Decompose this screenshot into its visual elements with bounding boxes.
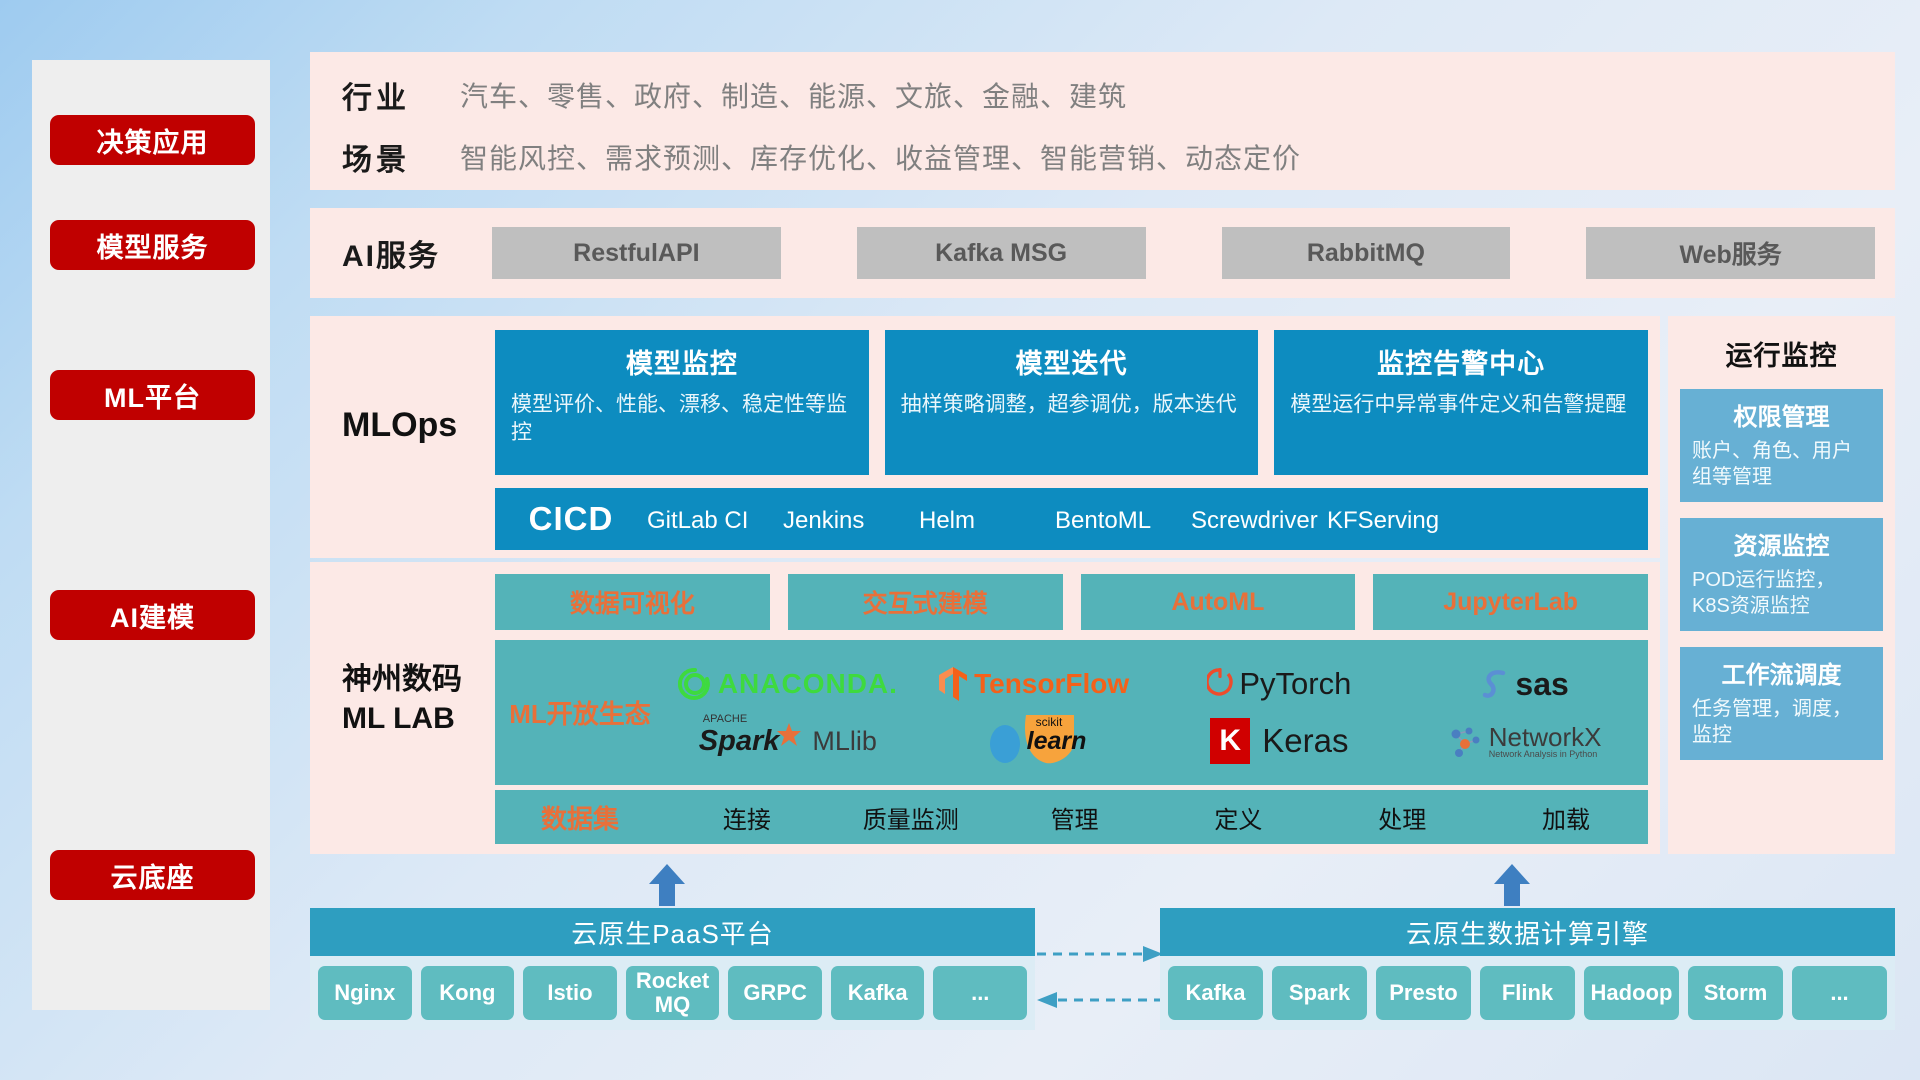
runtime-monitoring-title: 运行监控: [1668, 316, 1895, 373]
service-chip-label: Kafka MSG: [935, 239, 1067, 268]
cicd-item-screwdriver[interactable]: Screwdriver: [1191, 508, 1327, 535]
dataset-item-define[interactable]: 定义: [1156, 800, 1320, 835]
dataset-item-connect[interactable]: 连接: [665, 800, 829, 835]
monitor-card-desc: POD运行监控，K8S资源监控: [1692, 567, 1871, 619]
scenario-row: 场景 智能风控、需求预测、库存优化、收益管理、智能营销、动态定价: [310, 132, 1895, 182]
left-rail: 决策应用 模型服务 ML平台 AI建模 云底座: [32, 60, 270, 1010]
cloud-paas-items: Nginx Kong Istio RocketMQ GRPC Kafka ...: [310, 956, 1035, 1030]
cloud-pill-rocketmq[interactable]: RocketMQ: [626, 966, 720, 1020]
spark-logo-text: Spark: [699, 725, 780, 758]
spark-star-icon: [776, 722, 802, 748]
networkx-logo: NetworkX Network Analysis in Python: [1402, 724, 1648, 759]
service-chip-label: RestfulAPI: [573, 239, 699, 268]
anaconda-icon: [678, 667, 712, 701]
pytorch-logo: PyTorch: [1157, 666, 1403, 702]
cicd-title: CICD: [495, 500, 647, 538]
learn-text: learn: [1027, 727, 1087, 756]
cloud-pill-kong[interactable]: Kong: [421, 966, 515, 1020]
cloud-pill-spark[interactable]: Spark: [1272, 966, 1367, 1020]
sas-logo-text: sas: [1515, 666, 1568, 703]
rail-label: AI建模: [110, 596, 195, 635]
ml-lab-band: 神州数码 ML LAB 数据可视化 交互式建模 AutoML JupyterLa…: [310, 562, 1660, 854]
rail-item-cloud-base[interactable]: 云底座: [50, 850, 255, 900]
rail-label: 云底座: [111, 856, 195, 895]
mllib-logo-text: MLlib: [812, 726, 877, 757]
industry-value: 汽车、零售、政府、制造、能源、文旅、金融、建筑: [460, 75, 1127, 115]
cloud-compute-block: 云原生数据计算引擎 Kafka Spark Presto Flink Hadoo…: [1160, 908, 1895, 1030]
service-chip-label: Web服务: [1679, 235, 1781, 271]
rail-item-decision-apps[interactable]: 决策应用: [50, 115, 255, 165]
service-chip-restfulapi[interactable]: RestfulAPI: [492, 227, 781, 279]
monitor-card-permission[interactable]: 权限管理 账户、角色、用户组等管理: [1680, 389, 1883, 502]
card-desc: 模型运行中异常事件定义和告警提醒: [1290, 391, 1632, 419]
networkx-text-block: NetworkX Network Analysis in Python: [1489, 724, 1602, 759]
lab-tool-label: AutoML: [1171, 588, 1264, 617]
card-desc: 抽样策略调整，超参调优，版本迭代: [901, 391, 1243, 419]
service-chip-kafka-msg[interactable]: Kafka MSG: [857, 227, 1146, 279]
cloud-pill-more[interactable]: ...: [1792, 966, 1887, 1020]
ai-service-band: AI服务 RestfulAPI Kafka MSG RabbitMQ Web服务: [310, 208, 1895, 298]
dataset-label: 数据集: [495, 799, 665, 836]
cicd-item-gitlab-ci[interactable]: GitLab CI: [647, 508, 783, 535]
tensorflow-logo: TensorFlow: [911, 666, 1157, 702]
lab-tool-label: 交互式建模: [863, 584, 988, 620]
lab-tool-interactive-modeling[interactable]: 交互式建模: [788, 574, 1063, 630]
keras-mark-letter: K: [1219, 724, 1241, 758]
scikit-learn-logo: scikit learn: [911, 713, 1157, 770]
mlops-card-alert-center[interactable]: 监控告警中心 模型运行中异常事件定义和告警提醒: [1274, 330, 1648, 475]
networkx-tagline: Network Analysis in Python: [1489, 750, 1602, 759]
mlops-card-list: 模型监控 模型评价、性能、漂移、稳定性等监控 模型迭代 抽样策略调整，超参调优，…: [495, 330, 1648, 475]
tensorflow-logo-text: TensorFlow: [974, 668, 1129, 700]
networkx-graph-icon: [1449, 724, 1483, 758]
mlops-card-model-monitoring[interactable]: 模型监控 模型评价、性能、漂移、稳定性等监控: [495, 330, 869, 475]
bidirectional-link-arrows: [1035, 938, 1165, 1016]
rail-label: 决策应用: [97, 121, 209, 160]
cloud-paas-block: 云原生PaaS平台 Nginx Kong Istio RocketMQ GRPC…: [310, 908, 1035, 1030]
scenario-value: 智能风控、需求预测、库存优化、收益管理、智能营销、动态定价: [460, 137, 1301, 177]
ai-service-items: RestfulAPI Kafka MSG RabbitMQ Web服务: [492, 227, 1895, 279]
lab-tool-jupyterlab[interactable]: JupyterLab: [1373, 574, 1648, 630]
card-title: 监控告警中心: [1290, 342, 1632, 381]
runtime-monitoring-panel: 运行监控 权限管理 账户、角色、用户组等管理 资源监控 POD运行监控，K8S资…: [1668, 316, 1895, 854]
ml-lab-label-line2: ML LAB: [342, 699, 462, 738]
cloud-pill-istio[interactable]: Istio: [523, 966, 617, 1020]
monitor-card-title: 工作流调度: [1692, 655, 1871, 690]
cicd-item-bentoml[interactable]: BentoML: [1055, 508, 1191, 535]
scikit-orange-blob: scikit learn: [1020, 713, 1080, 770]
service-chip-label: RabbitMQ: [1307, 239, 1425, 268]
ml-ecosystem-logo-grid: ANACONDA. TensorFlow PyTorch: [665, 656, 1648, 770]
ml-ecosystem-label: ML开放生态: [495, 694, 665, 731]
mlops-card-model-iteration[interactable]: 模型迭代 抽样策略调整，超参调优，版本迭代: [885, 330, 1259, 475]
cloud-pill-hadoop[interactable]: Hadoop: [1584, 966, 1679, 1020]
card-desc: 模型评价、性能、漂移、稳定性等监控: [511, 391, 853, 446]
card-title: 模型迭代: [901, 342, 1243, 381]
monitor-card-desc: 任务管理，调度，监控: [1692, 696, 1871, 748]
monitor-card-title: 资源监控: [1692, 526, 1871, 561]
keras-logo-text: Keras: [1262, 722, 1348, 760]
industry-key: 行业: [310, 73, 460, 117]
monitor-card-desc: 账户、角色、用户组等管理: [1692, 438, 1871, 490]
keras-logo: K Keras: [1157, 718, 1403, 764]
dataset-item-load[interactable]: 加载: [1484, 800, 1648, 835]
cloud-compute-title: 云原生数据计算引擎: [1160, 908, 1895, 956]
spark-mark: APACHE Spark: [699, 725, 803, 758]
service-chip-web-service[interactable]: Web服务: [1586, 227, 1875, 279]
pytorch-logo-text: PyTorch: [1239, 666, 1351, 702]
mlops-label: MLOps: [342, 406, 457, 445]
mlops-band: MLOps 模型监控 模型评价、性能、漂移、稳定性等监控 模型迭代 抽样策略调整…: [310, 316, 1660, 558]
cicd-bar: CICD GitLab CI Jenkins Helm BentoML Scre…: [495, 488, 1648, 550]
card-title: 模型监控: [511, 342, 853, 381]
dataset-item-list: 连接 质量监测 管理 定义 处理 加载: [665, 800, 1648, 835]
tensorflow-icon: [938, 666, 968, 702]
lab-tool-data-visualization[interactable]: 数据可视化: [495, 574, 770, 630]
dataset-item-manage[interactable]: 管理: [993, 800, 1157, 835]
cloud-pill-nginx[interactable]: Nginx: [318, 966, 412, 1020]
cloud-pill-kafka[interactable]: Kafka: [1168, 966, 1263, 1020]
dataset-item-quality-monitor[interactable]: 质量监测: [829, 800, 993, 835]
sas-icon: [1481, 668, 1509, 700]
monitor-card-title: 权限管理: [1692, 397, 1871, 432]
cloud-pill-more[interactable]: ...: [933, 966, 1027, 1020]
sas-logo: sas: [1402, 666, 1648, 703]
pytorch-icon: [1207, 667, 1233, 701]
spark-apache-text: APACHE: [703, 713, 747, 725]
cloud-pill-presto[interactable]: Presto: [1376, 966, 1471, 1020]
rail-item-ai-modeling[interactable]: AI建模: [50, 590, 255, 640]
cloud-pill-storm[interactable]: Storm: [1688, 966, 1783, 1020]
lab-tool-label: JupyterLab: [1443, 588, 1578, 617]
rail-item-ml-platform[interactable]: ML平台: [50, 370, 255, 420]
lab-tool-automl[interactable]: AutoML: [1081, 574, 1356, 630]
ml-lab-label: 神州数码 ML LAB: [342, 660, 462, 738]
service-chip-rabbitmq[interactable]: RabbitMQ: [1222, 227, 1511, 279]
cloud-compute-items: Kafka Spark Presto Flink Hadoop Storm ..…: [1160, 956, 1895, 1030]
rail-label: 模型服务: [97, 226, 209, 265]
cicd-item-kfserving[interactable]: KFServing: [1327, 508, 1463, 535]
decision-apps-band: 行业 汽车、零售、政府、制造、能源、文旅、金融、建筑 场景 智能风控、需求预测、…: [310, 52, 1895, 190]
cloud-pill-grpc[interactable]: GRPC: [728, 966, 822, 1020]
networkx-logo-text: NetworkX: [1489, 724, 1602, 750]
industry-row: 行业 汽车、零售、政府、制造、能源、文旅、金融、建筑: [310, 70, 1895, 120]
cicd-item-jenkins[interactable]: Jenkins: [783, 508, 919, 535]
anaconda-logo-text: ANACONDA.: [718, 668, 898, 700]
cloud-pill-flink[interactable]: Flink: [1480, 966, 1575, 1020]
scenario-key: 场景: [310, 135, 460, 179]
ml-ecosystem-row: ML开放生态 ANACONDA. TensorFlow: [495, 640, 1648, 785]
ml-lab-label-line1: 神州数码: [342, 660, 462, 699]
ml-lab-tool-list: 数据可视化 交互式建模 AutoML JupyterLab: [495, 574, 1648, 630]
dataset-item-process[interactable]: 处理: [1320, 800, 1484, 835]
rail-item-model-service[interactable]: 模型服务: [50, 220, 255, 270]
dataset-row: 数据集 连接 质量监测 管理 定义 处理 加载: [495, 790, 1648, 844]
anaconda-logo: ANACONDA.: [665, 667, 911, 701]
rail-label: ML平台: [104, 376, 201, 415]
monitor-card-workflow[interactable]: 工作流调度 任务管理，调度，监控: [1680, 647, 1883, 760]
ai-service-label: AI服务: [310, 231, 492, 275]
spark-mllib-logo: APACHE Spark MLlib: [665, 725, 911, 758]
monitor-card-resource[interactable]: 资源监控 POD运行监控，K8S资源监控: [1680, 518, 1883, 631]
up-arrow-compute-icon: [1490, 862, 1534, 906]
cloud-paas-title: 云原生PaaS平台: [310, 908, 1035, 956]
up-arrow-paas-icon: [645, 862, 689, 906]
keras-mark-icon: K: [1210, 718, 1250, 764]
cicd-item-helm[interactable]: Helm: [919, 508, 1055, 535]
lab-tool-label: 数据可视化: [570, 584, 695, 620]
cloud-pill-kafka[interactable]: Kafka: [831, 966, 925, 1020]
